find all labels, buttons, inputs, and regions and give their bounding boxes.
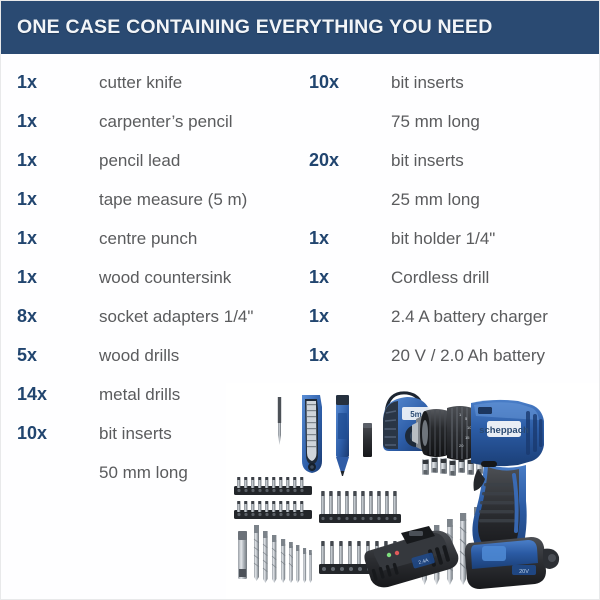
spec-item: 75 mm long — [391, 112, 480, 132]
spec-row-continuation: 25 mm long — [293, 180, 600, 219]
spec-item: centre punch — [99, 229, 197, 249]
spec-quantity: 1x — [17, 228, 37, 249]
spec-item: bit inserts — [391, 151, 464, 171]
spec-list-right: 10x bit inserts 75 mm long 20x bit inser… — [293, 63, 600, 375]
spec-item: Cordless drill — [391, 268, 489, 288]
spec-quantity: 1x — [17, 72, 37, 93]
spec-row: 1x carpenter’s pencil — [1, 102, 301, 141]
spec-item: carpenter’s pencil — [99, 112, 233, 132]
spec-quantity: 1x — [309, 228, 329, 249]
spec-item: wood countersink — [99, 268, 231, 288]
cutter-knife-icon — [302, 395, 322, 473]
spec-item: 20 V / 2.0 Ah battery — [391, 346, 545, 366]
spec-quantity: 10x — [309, 72, 339, 93]
spec-item: tape measure (5 m) — [99, 190, 247, 210]
bit-inserts-strip-icon — [234, 477, 312, 495]
spec-item: socket adapters 1/4" — [99, 307, 253, 327]
spec-item: bit holder 1/4" — [391, 229, 495, 249]
bit-holder-icon — [238, 531, 247, 579]
spec-item: bit inserts — [99, 424, 172, 444]
spec-row: 8x socket adapters 1/4" — [1, 297, 301, 336]
spec-quantity: 1x — [17, 111, 37, 132]
page-title: ONE CASE CONTAINING EVERYTHING YOU NEED — [1, 16, 493, 39]
spec-quantity: 1x — [17, 189, 37, 210]
drill-brand-label: scheppach — [479, 425, 529, 436]
spec-quantity: 8x — [17, 306, 37, 327]
spec-quantity: 10x — [17, 423, 47, 444]
svg-text:20: 20 — [459, 443, 464, 448]
spec-item: pencil lead — [99, 151, 180, 171]
spec-item: wood drills — [99, 346, 179, 366]
spec-row: 20x bit inserts — [293, 141, 600, 180]
spec-row: 1x Cordless drill — [293, 258, 600, 297]
spec-quantity: 5x — [17, 345, 37, 366]
spec-row: 1x pencil lead — [1, 141, 301, 180]
spec-quantity: 20x — [309, 150, 339, 171]
spec-quantity: 1x — [309, 267, 329, 288]
spec-quantity: 1x — [17, 267, 37, 288]
spec-row: 5x wood drills — [1, 336, 301, 375]
pencil-lead-tube-icon — [363, 423, 372, 457]
spec-item: 50 mm long — [99, 463, 188, 483]
spec-row: 1x bit holder 1/4" — [293, 219, 600, 258]
spec-item: cutter knife — [99, 73, 182, 93]
bit-inserts-strip-icon — [234, 501, 312, 519]
header-bar: ONE CASE CONTAINING EVERYTHING YOU NEED — [1, 1, 600, 54]
spec-item: 2.4 A battery charger — [391, 307, 548, 327]
spec-row: 1x cutter knife — [1, 63, 301, 102]
spec-sheet-page: ONE CASE CONTAINING EVERYTHING YOU NEED … — [0, 0, 600, 600]
spec-row: 1x wood countersink — [1, 258, 301, 297]
spec-quantity: 1x — [309, 345, 329, 366]
spec-row: 1x tape measure (5 m) — [1, 180, 301, 219]
spec-row: 1x 20 V / 2.0 Ah battery — [293, 336, 600, 375]
svg-text:15: 15 — [465, 435, 470, 440]
spec-item: metal drills — [99, 385, 180, 405]
spec-row-continuation: 75 mm long — [293, 102, 600, 141]
spec-quantity: 1x — [309, 306, 329, 327]
spec-item: bit inserts — [391, 73, 464, 93]
spec-row: 1x 2.4 A battery charger — [293, 297, 600, 336]
spec-quantity: 14x — [17, 384, 47, 405]
spec-quantity: 1x — [17, 150, 37, 171]
spec-row: 1x centre punch — [1, 219, 301, 258]
product-photo: 5m — [226, 383, 600, 600]
spec-item: 25 mm long — [391, 190, 480, 210]
spec-row: 10x bit inserts — [293, 63, 600, 102]
svg-text:20V: 20V — [519, 569, 529, 575]
